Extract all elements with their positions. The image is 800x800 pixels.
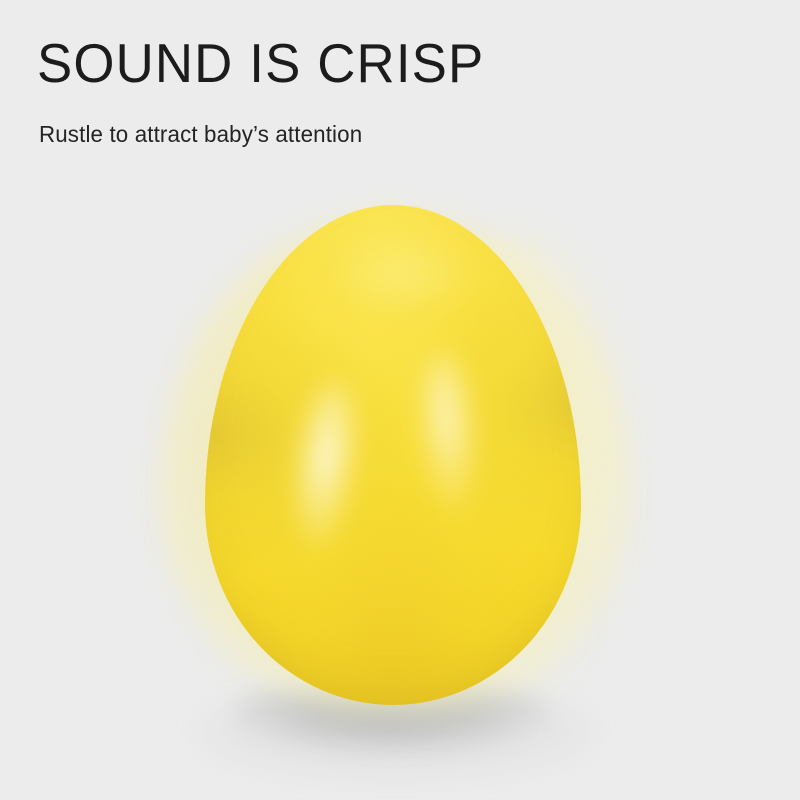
- egg-edge-shading-right: [205, 205, 581, 705]
- copy-block: SOUND IS CRISP Rustle to attract baby’s …: [37, 32, 737, 148]
- egg-rattle-toy: [205, 205, 581, 705]
- headline: SOUND IS CRISP: [37, 32, 709, 94]
- subtitle: Rustle to attract baby’s attention: [39, 120, 716, 148]
- product-feature-banner: SOUND IS CRISP Rustle to attract baby’s …: [0, 0, 800, 800]
